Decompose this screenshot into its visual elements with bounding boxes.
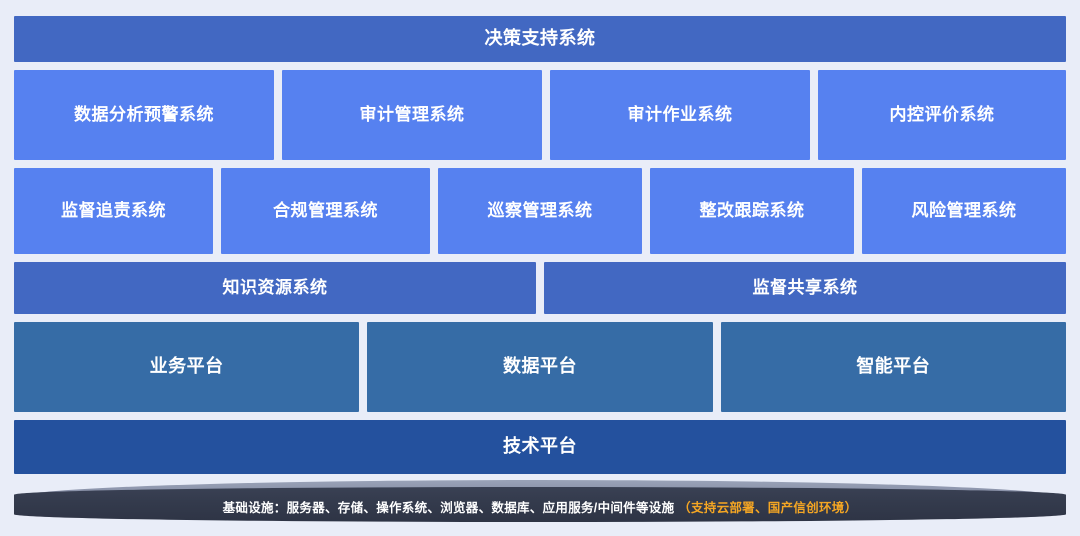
layer-application-systems-row-1: 数据分析预警系统 审计管理系统 审计作业系统 内控评价系统 (14, 70, 1066, 160)
block-inspection-management-system[interactable]: 巡察管理系统 (438, 168, 642, 254)
block-internal-control-evaluation-system[interactable]: 内控评价系统 (818, 70, 1066, 160)
block-business-platform[interactable]: 业务平台 (14, 322, 359, 412)
block-compliance-management-system[interactable]: 合规管理系统 (221, 168, 430, 254)
layer-platforms: 业务平台 数据平台 智能平台 (14, 322, 1066, 412)
layer-application-systems-row-2: 监督追责系统 合规管理系统 巡察管理系统 整改跟踪系统 风险管理系统 (14, 168, 1066, 254)
layer-knowledge-sharing: 知识资源系统 监督共享系统 (14, 262, 1066, 314)
layer-infrastructure: 基础设施：服务器、存储、操作系统、浏览器、数据库、应用服务/中间件等设施 （支持… (14, 480, 1066, 522)
block-technology-platform[interactable]: 技术平台 (14, 420, 1066, 474)
infrastructure-text: 基础设施：服务器、存储、操作系统、浏览器、数据库、应用服务/中间件等设施 （支持… (223, 493, 858, 516)
block-supervision-accountability-system[interactable]: 监督追责系统 (14, 168, 213, 254)
diagram-canvas: 决策支持系统 数据分析预警系统 审计管理系统 审计作业系统 内控评价系统 监督追… (0, 0, 1080, 536)
block-intelligent-platform[interactable]: 智能平台 (721, 322, 1066, 412)
block-infrastructure[interactable]: 基础设施：服务器、存储、操作系统、浏览器、数据库、应用服务/中间件等设施 （支持… (14, 487, 1066, 522)
block-audit-management-system[interactable]: 审计管理系统 (282, 70, 542, 160)
block-risk-management-system[interactable]: 风险管理系统 (862, 168, 1066, 254)
architecture-diagram: 决策支持系统 数据分析预警系统 审计管理系统 审计作业系统 内控评价系统 监督追… (0, 0, 1080, 536)
infrastructure-text-highlight: （支持云部署、国产信创环境） (678, 501, 857, 515)
block-rectification-tracking-system[interactable]: 整改跟踪系统 (650, 168, 854, 254)
block-decision-support-system[interactable]: 决策支持系统 (14, 16, 1066, 62)
block-audit-operation-system[interactable]: 审计作业系统 (550, 70, 810, 160)
block-data-analysis-warning-system[interactable]: 数据分析预警系统 (14, 70, 274, 160)
block-knowledge-resource-system[interactable]: 知识资源系统 (14, 262, 536, 314)
block-data-platform[interactable]: 数据平台 (367, 322, 712, 412)
layer-decision-support: 决策支持系统 (14, 16, 1066, 62)
layer-technology-platform: 技术平台 (14, 420, 1066, 474)
block-supervision-sharing-system[interactable]: 监督共享系统 (544, 262, 1066, 314)
infrastructure-text-main: 基础设施：服务器、存储、操作系统、浏览器、数据库、应用服务/中间件等设施 (223, 501, 675, 515)
